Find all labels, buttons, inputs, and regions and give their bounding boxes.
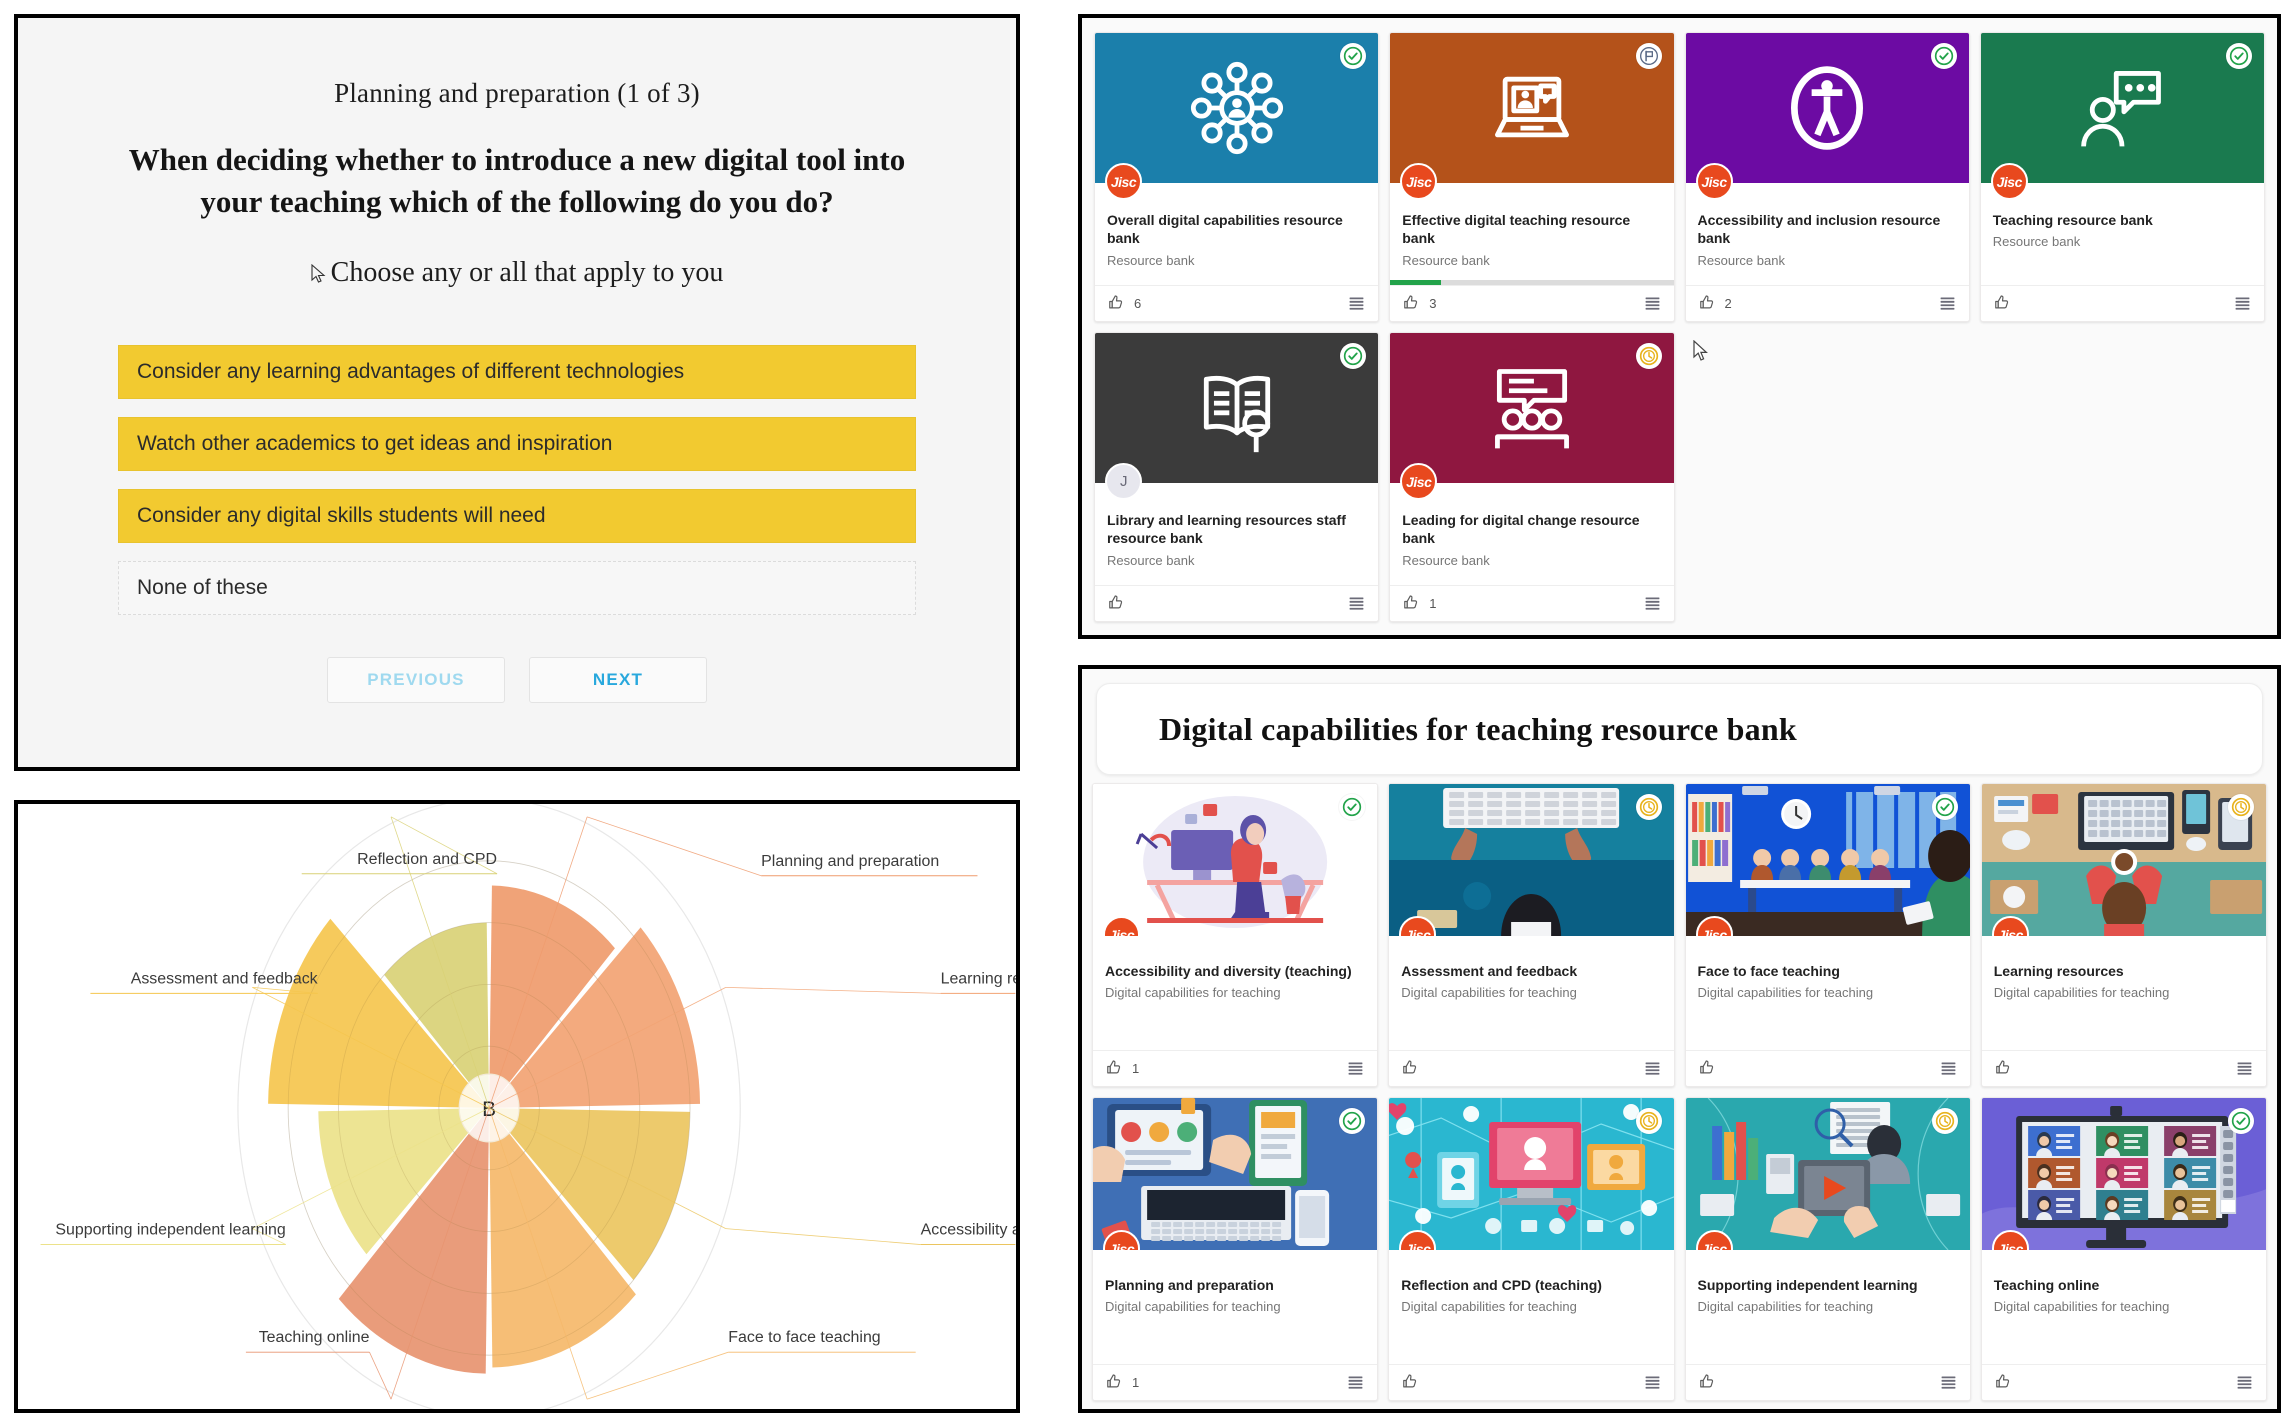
card-title: Face to face teaching (1698, 962, 1958, 980)
menu-lines-icon[interactable] (2235, 1373, 2254, 1392)
chart-axis-label-1: Learning resources (941, 970, 1016, 987)
thumbs-up-icon[interactable] (1401, 1373, 1420, 1392)
card-hero: Jisc (1390, 33, 1673, 183)
survey-option-2[interactable]: Consider any digital skills students wil… (118, 489, 916, 543)
card-title: Planning and preparation (1105, 1276, 1365, 1294)
clock-badge (1636, 1108, 1662, 1134)
card-body: Leading for digital change resource bank… (1390, 483, 1673, 585)
clock-badge (1932, 1108, 1958, 1134)
chart-axis-label-4: Teaching online (259, 1329, 370, 1346)
mouse-cursor-icon (311, 260, 327, 280)
card-footer (1095, 585, 1378, 621)
card-subtitle: Digital capabilities for teaching (1994, 985, 2254, 1000)
menu-lines-icon[interactable] (2235, 1059, 2254, 1078)
card-footer: 1 (1093, 1364, 1377, 1400)
card-footer (1686, 1050, 1970, 1086)
check-circle-badge (2226, 43, 2252, 69)
thumbs-up-icon[interactable] (1698, 294, 1717, 313)
resource-card[interactable]: JiscSupporting independent learningDigit… (1685, 1097, 1971, 1401)
like-count: 1 (1429, 596, 1436, 611)
resource-card[interactable]: JiscAccessibility and diversity (teachin… (1092, 783, 1378, 1087)
card-body: Planning and preparationDigital capabili… (1093, 1250, 1377, 1364)
card-footer (1982, 1364, 2266, 1400)
card-subtitle: Resource bank (1402, 553, 1661, 568)
chart-axis-label-0: Planning and preparation (761, 853, 939, 870)
thumbs-up-icon[interactable] (1993, 294, 2012, 313)
survey-hint: Choose any or all that apply to you (76, 257, 958, 289)
page-title: Digital capabilities for teaching resour… (1159, 711, 1797, 748)
card-hero: Jisc (1686, 1098, 1970, 1250)
survey-hint-text: Choose any or all that apply to you (331, 257, 724, 288)
card-footer: 1 (1390, 585, 1673, 621)
card-hero: Jisc (1981, 33, 2264, 183)
chart-axis-label-7: Reflection and CPD (357, 851, 497, 868)
like-count: 1 (1132, 1061, 1139, 1076)
menu-lines-icon[interactable] (1939, 1059, 1958, 1078)
survey-step-label: Planning and preparation (1 of 3) (76, 78, 958, 109)
survey-option-0[interactable]: Consider any learning advantages of diff… (118, 345, 916, 399)
card-hero: Jisc (1982, 784, 2266, 936)
avatar: J (1105, 463, 1142, 500)
check-circle-badge (1931, 43, 1957, 69)
chart-axis-label-5: Supporting independent learning (55, 1222, 285, 1239)
survey-question: When deciding whether to introduce a new… (76, 139, 958, 223)
card-title: Learning resources (1994, 962, 2254, 980)
thumbs-up-icon[interactable] (1994, 1373, 2013, 1392)
card-subtitle: Digital capabilities for teaching (1105, 985, 1365, 1000)
card-subtitle: Resource bank (1993, 234, 2252, 249)
like-count: 2 (1725, 296, 1732, 311)
avatar: Jisc (1991, 163, 2028, 200)
card-hero: Jisc (1389, 1098, 1673, 1250)
card-body: Effective digital teaching resource bank… (1390, 183, 1673, 280)
card-title: Teaching resource bank (1993, 211, 2252, 229)
card-body: Library and learning resources staff res… (1095, 483, 1378, 585)
menu-lines-icon[interactable] (1643, 1373, 1662, 1392)
card-hero: Jisc (1686, 33, 1969, 183)
next-button[interactable]: NEXT (529, 657, 707, 703)
person-speech-bubble-icon (2074, 60, 2170, 156)
card-title: Supporting independent learning (1698, 1276, 1958, 1294)
check-circle-badge (1340, 43, 1366, 69)
chart-center-label: B (482, 1098, 496, 1121)
resource-card[interactable]: JiscAccessibility and inclusion resource… (1685, 32, 1970, 322)
card-subtitle: Resource bank (1402, 253, 1661, 268)
check-circle-badge (1339, 1108, 1365, 1134)
avatar: Jisc (1696, 163, 1733, 200)
hands-keyboard-illustration (1389, 784, 1673, 936)
thumbs-up-icon[interactable] (1105, 1059, 1124, 1078)
survey-option-label: Watch other academics to get ideas and i… (137, 432, 612, 456)
card-body: Accessibility and diversity (teaching)Di… (1093, 936, 1377, 1050)
chart-axis-label-3: Face to face teaching (728, 1329, 880, 1346)
like-count: 3 (1429, 296, 1436, 311)
card-body: Assessment and feedbackDigital capabilit… (1389, 936, 1673, 1050)
card-subtitle: Digital capabilities for teaching (1401, 1299, 1661, 1314)
resource-card[interactable]: JLibrary and learning resources staff re… (1094, 332, 1379, 622)
avatar: Jisc (1105, 163, 1142, 200)
clock-badge (1636, 343, 1662, 369)
menu-lines-icon[interactable] (1939, 1373, 1958, 1392)
screenshot-root: Planning and preparation (1 of 3) When d… (0, 0, 2295, 1427)
card-body: Supporting independent learningDigital c… (1686, 1250, 1970, 1364)
network-devices-illustration (1389, 1098, 1673, 1250)
teaching-bank-header: Digital capabilities for teaching resour… (1096, 683, 2263, 775)
menu-lines-icon[interactable] (2233, 294, 2252, 313)
chart-axis-label-6: Assessment and feedback (131, 970, 318, 987)
survey-option-label: None of these (137, 576, 268, 600)
video-call-grid-illustration (1982, 1098, 2266, 1250)
card-title: Accessibility and diversity (teaching) (1105, 962, 1365, 980)
card-hero: Jisc (1982, 1098, 2266, 1250)
card-hero: Jisc (1093, 784, 1377, 936)
chart-axis-label-2: Accessibility and diversity (921, 1222, 1016, 1239)
card-footer (1981, 285, 2264, 321)
clock-badge (1636, 794, 1662, 820)
survey-option-label: Consider any learning advantages of diff… (137, 360, 684, 384)
resource-card[interactable]: JiscTeaching resource bankResource bank (1980, 32, 2265, 322)
menu-lines-icon[interactable] (1346, 1373, 1365, 1392)
survey-option-1[interactable]: Watch other academics to get ideas and i… (118, 417, 916, 471)
resource-card[interactable]: JiscLeading for digital change resource … (1389, 332, 1674, 622)
card-subtitle: Digital capabilities for teaching (1105, 1299, 1365, 1314)
card-footer (1389, 1050, 1673, 1086)
resource-card[interactable]: JiscAssessment and feedbackDigital capab… (1388, 783, 1674, 1087)
card-title: Effective digital teaching resource bank (1402, 211, 1661, 248)
check-circle-badge (1932, 794, 1958, 820)
like-count: 1 (1132, 1375, 1139, 1390)
resource-banks-panel: JiscOverall digital capabilities resourc… (1078, 14, 2281, 639)
avatar: Jisc (1400, 163, 1437, 200)
card-title: Leading for digital change resource bank (1402, 511, 1661, 548)
resource-card[interactable]: JiscEffective digital teaching resource … (1389, 32, 1674, 322)
card-body: Teaching onlineDigital capabilities for … (1982, 1250, 2266, 1364)
card-title: Overall digital capabilities resource ba… (1107, 211, 1366, 248)
tablet-devices-illustration (1093, 1098, 1377, 1250)
desk-person-illustration (1093, 784, 1377, 936)
thumbs-up-icon[interactable] (1107, 294, 1126, 313)
resource-card[interactable]: JiscOverall digital capabilities resourc… (1094, 32, 1379, 322)
petal-chart[interactable]: BPlanning and preparationLearning resour… (18, 804, 1016, 1409)
card-title: Accessibility and inclusion resource ban… (1698, 211, 1957, 248)
card-hero: Jisc (1093, 1098, 1377, 1250)
resource-card[interactable]: JiscTeaching onlineDigital capabilities … (1981, 1097, 2267, 1401)
card-footer (1982, 1050, 2266, 1086)
card-subtitle: Digital capabilities for teaching (1698, 1299, 1958, 1314)
resource-card[interactable]: JiscFace to face teachingDigital capabil… (1685, 783, 1971, 1087)
card-hero: Jisc (1389, 784, 1673, 936)
survey-options-list: Consider any learning advantages of diff… (76, 345, 958, 615)
resource-banks-grid: JiscOverall digital capabilities resourc… (1082, 18, 2277, 635)
card-body: Teaching resource bankResource bank (1981, 183, 2264, 285)
survey-panel: Planning and preparation (1 of 3) When d… (14, 14, 1020, 771)
flag-badge (1636, 43, 1662, 69)
card-body: Reflection and CPD (teaching)Digital cap… (1389, 1250, 1673, 1364)
accessibility-icon (1779, 60, 1875, 156)
card-title: Reflection and CPD (teaching) (1401, 1276, 1661, 1294)
card-body: Accessibility and inclusion resource ban… (1686, 183, 1969, 285)
thumbs-up-icon[interactable] (1698, 1059, 1717, 1078)
card-subtitle: Digital capabilities for teaching (1994, 1299, 2254, 1314)
card-footer: 3 (1390, 285, 1673, 321)
desk-topdown-illustration (1982, 784, 2266, 936)
resource-card[interactable]: JiscReflection and CPD (teaching)Digital… (1388, 1097, 1674, 1401)
card-title: Assessment and feedback (1401, 962, 1661, 980)
thumbs-up-icon[interactable] (1401, 1059, 1420, 1078)
check-circle-badge (2228, 1108, 2254, 1134)
menu-lines-icon[interactable] (1347, 594, 1366, 613)
resource-card[interactable]: JiscLearning resourcesDigital capabiliti… (1981, 783, 2267, 1087)
thumbs-up-icon[interactable] (1994, 1059, 2013, 1078)
thumbs-up-icon[interactable] (1698, 1373, 1717, 1392)
tablet-video-illustration (1686, 1098, 1970, 1250)
teaching-bank-panel: Digital capabilities for teaching resour… (1078, 665, 2281, 1413)
menu-lines-icon[interactable] (1643, 1059, 1662, 1078)
book-magnifier-icon (1189, 360, 1285, 456)
card-footer: 6 (1095, 285, 1378, 321)
card-subtitle: Resource bank (1698, 253, 1957, 268)
thumbs-up-icon[interactable] (1402, 594, 1421, 613)
meeting-speech-icon (1484, 360, 1580, 456)
menu-lines-icon[interactable] (1643, 294, 1662, 313)
like-count: 6 (1134, 296, 1141, 311)
resource-card[interactable]: JiscPlanning and preparationDigital capa… (1092, 1097, 1378, 1401)
card-body: Overall digital capabilities resource ba… (1095, 183, 1378, 285)
card-subtitle: Resource bank (1107, 553, 1366, 568)
survey-option-3[interactable]: None of these (118, 561, 916, 615)
card-subtitle: Digital capabilities for teaching (1698, 985, 1958, 1000)
teaching-bank-grid: JiscAccessibility and diversity (teachin… (1092, 783, 2267, 1401)
card-footer: 1 (1093, 1050, 1377, 1086)
menu-lines-icon[interactable] (1347, 294, 1366, 313)
menu-lines-icon[interactable] (1643, 594, 1662, 613)
card-footer: 2 (1686, 285, 1969, 321)
previous-button[interactable]: PREVIOUS (327, 657, 505, 703)
card-title: Library and learning resources staff res… (1107, 511, 1366, 548)
thumbs-up-icon[interactable] (1105, 1373, 1124, 1392)
laptop-person-chat-icon (1484, 60, 1580, 156)
card-subtitle: Resource bank (1107, 253, 1366, 268)
survey-nav-row: PREVIOUS NEXT (76, 657, 958, 703)
menu-lines-icon[interactable] (1938, 294, 1957, 313)
card-hero: Jisc (1390, 333, 1673, 483)
card-body: Learning resourcesDigital capabilities f… (1982, 936, 2266, 1050)
card-hero: J (1095, 333, 1378, 483)
network-person-icon (1189, 60, 1285, 156)
thumbs-up-icon[interactable] (1107, 594, 1126, 613)
card-title: Teaching online (1994, 1276, 2254, 1294)
survey-option-label: Consider any digital skills students wil… (137, 504, 546, 528)
check-circle-badge (1339, 794, 1365, 820)
clock-badge (2228, 794, 2254, 820)
check-circle-badge (1340, 343, 1366, 369)
card-hero: Jisc (1686, 784, 1970, 936)
card-footer (1389, 1364, 1673, 1400)
avatar: Jisc (1400, 463, 1437, 500)
card-subtitle: Digital capabilities for teaching (1401, 985, 1661, 1000)
card-hero: Jisc (1095, 33, 1378, 183)
menu-lines-icon[interactable] (1346, 1059, 1365, 1078)
petal-chart-panel: BPlanning and preparationLearning resour… (14, 800, 1020, 1413)
card-body: Face to face teachingDigital capabilitie… (1686, 936, 1970, 1050)
thumbs-up-icon[interactable] (1402, 294, 1421, 313)
card-footer (1686, 1364, 1970, 1400)
classroom-illustration (1686, 784, 1970, 936)
